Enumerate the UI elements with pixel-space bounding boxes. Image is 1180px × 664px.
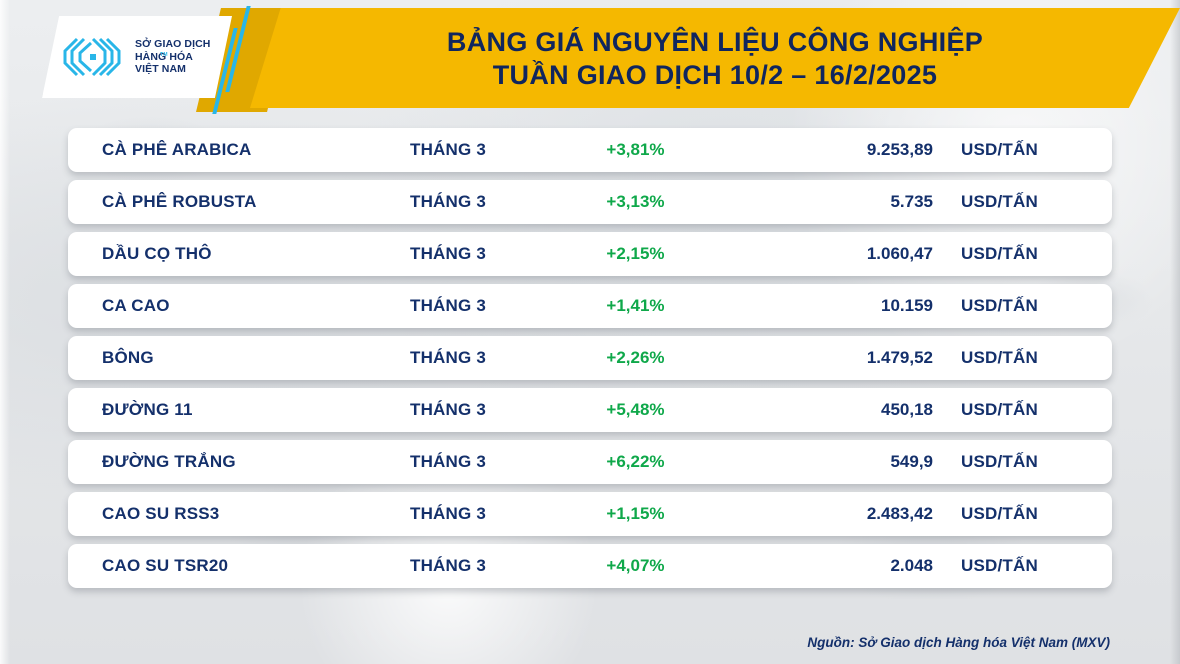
- contract-month: THÁNG 3: [368, 348, 528, 368]
- price-value: 450,18: [743, 400, 933, 420]
- commodity-name: CAO SU RSS3: [68, 504, 368, 524]
- price-value: 2.483,42: [743, 504, 933, 524]
- price-value: 1.060,47: [743, 244, 933, 264]
- contract-month: THÁNG 3: [368, 452, 528, 472]
- price-value: 549,9: [743, 452, 933, 472]
- row-spacer: [0, 380, 1180, 388]
- row-spacer: [0, 328, 1180, 336]
- price-unit: USD/TẤN: [933, 296, 1112, 316]
- row-spacer: [0, 536, 1180, 544]
- commodity-name: BÔNG: [68, 348, 368, 368]
- trademark-mark: TM: [160, 52, 168, 58]
- mxv-chevron-logo-icon: [62, 36, 126, 78]
- price-value: 2.048: [743, 556, 933, 576]
- row-spacer: [0, 432, 1180, 440]
- table-row[interactable]: CA CAOTHÁNG 3+1,41%10.159USD/TẤN: [68, 284, 1112, 328]
- price-unit: USD/TẤN: [933, 556, 1112, 576]
- price-value: 10.159: [743, 296, 933, 316]
- table-row[interactable]: CAO SU TSR20THÁNG 3+4,07%2.048USD/TẤN: [68, 544, 1112, 588]
- change-percent: +2,15%: [528, 244, 743, 264]
- table-row[interactable]: CÀ PHÊ ARABICATHÁNG 3+3,81%9.253,89USD/T…: [68, 128, 1112, 172]
- change-percent: +5,48%: [528, 400, 743, 420]
- table-row[interactable]: ĐƯỜNG 11THÁNG 3+5,48%450,18USD/TẤN: [68, 388, 1112, 432]
- change-percent: +1,41%: [528, 296, 743, 316]
- commodity-price-table: CÀ PHÊ ARABICATHÁNG 3+3,81%9.253,89USD/T…: [0, 128, 1180, 588]
- commodity-name: CÀ PHÊ ROBUSTA: [68, 192, 368, 212]
- change-percent: +3,13%: [528, 192, 743, 212]
- logo-wordmark: SỞ GIAO DỊCH HÀNG HÓA VIỆT NAM: [135, 38, 211, 75]
- contract-month: THÁNG 3: [368, 504, 528, 524]
- price-value: 5.735: [743, 192, 933, 212]
- page-title-line-1: BẢNG GIÁ NGUYÊN LIỆU CÔNG NGHIỆP: [447, 26, 983, 58]
- commodity-name: ĐƯỜNG TRẮNG: [68, 452, 368, 472]
- row-spacer: [0, 484, 1180, 492]
- logo-card: TM SỞ GIAO DỊCH HÀNG HÓA VIỆT NAM: [42, 16, 232, 98]
- price-unit: USD/TẤN: [933, 244, 1112, 264]
- price-unit: USD/TẤN: [933, 504, 1112, 524]
- page-header: TM SỞ GIAO DỊCH HÀNG HÓA VIỆT NAM BẢNG G…: [0, 0, 1180, 114]
- change-percent: +6,22%: [528, 452, 743, 472]
- row-spacer: [0, 172, 1180, 180]
- table-row[interactable]: DẦU CỌ THÔTHÁNG 3+2,15%1.060,47USD/TẤN: [68, 232, 1112, 276]
- logo-line-2: HÀNG HÓA: [135, 51, 211, 63]
- row-spacer: [0, 224, 1180, 232]
- row-spacer: [0, 276, 1180, 284]
- price-value: 9.253,89: [743, 140, 933, 160]
- price-unit: USD/TẤN: [933, 400, 1112, 420]
- commodity-name: DẦU CỌ THÔ: [68, 244, 368, 264]
- source-note: Nguồn: Sở Giao dịch Hàng hóa Việt Nam (M…: [807, 635, 1110, 650]
- price-unit: USD/TẤN: [933, 452, 1112, 472]
- table-row[interactable]: BÔNGTHÁNG 3+2,26%1.479,52USD/TẤN: [68, 336, 1112, 380]
- price-unit: USD/TẤN: [933, 140, 1112, 160]
- change-percent: +4,07%: [528, 556, 743, 576]
- logo-line-1: SỞ GIAO DỊCH: [135, 38, 211, 50]
- contract-month: THÁNG 3: [368, 400, 528, 420]
- change-percent: +3,81%: [528, 140, 743, 160]
- commodity-name: CA CAO: [68, 296, 368, 316]
- commodity-name: CÀ PHÊ ARABICA: [68, 140, 368, 160]
- page-title-line-2: TUẦN GIAO DỊCH 10/2 – 16/2/2025: [493, 59, 937, 91]
- logo-line-3: VIỆT NAM: [135, 63, 211, 75]
- title-banner: BẢNG GIÁ NGUYÊN LIỆU CÔNG NGHIỆP TUẦN GI…: [250, 8, 1180, 108]
- change-percent: +2,26%: [528, 348, 743, 368]
- contract-month: THÁNG 3: [368, 140, 528, 160]
- table-row[interactable]: CÀ PHÊ ROBUSTATHÁNG 3+3,13%5.735USD/TẤN: [68, 180, 1112, 224]
- contract-month: THÁNG 3: [368, 192, 528, 212]
- price-value: 1.479,52: [743, 348, 933, 368]
- price-unit: USD/TẤN: [933, 348, 1112, 368]
- table-row[interactable]: ĐƯỜNG TRẮNGTHÁNG 3+6,22%549,9USD/TẤN: [68, 440, 1112, 484]
- contract-month: THÁNG 3: [368, 556, 528, 576]
- contract-month: THÁNG 3: [368, 244, 528, 264]
- contract-month: THÁNG 3: [368, 296, 528, 316]
- price-unit: USD/TẤN: [933, 192, 1112, 212]
- commodity-name: ĐƯỜNG 11: [68, 400, 368, 420]
- change-percent: +1,15%: [528, 504, 743, 524]
- table-row[interactable]: CAO SU RSS3THÁNG 3+1,15%2.483,42USD/TẤN: [68, 492, 1112, 536]
- commodity-name: CAO SU TSR20: [68, 556, 368, 576]
